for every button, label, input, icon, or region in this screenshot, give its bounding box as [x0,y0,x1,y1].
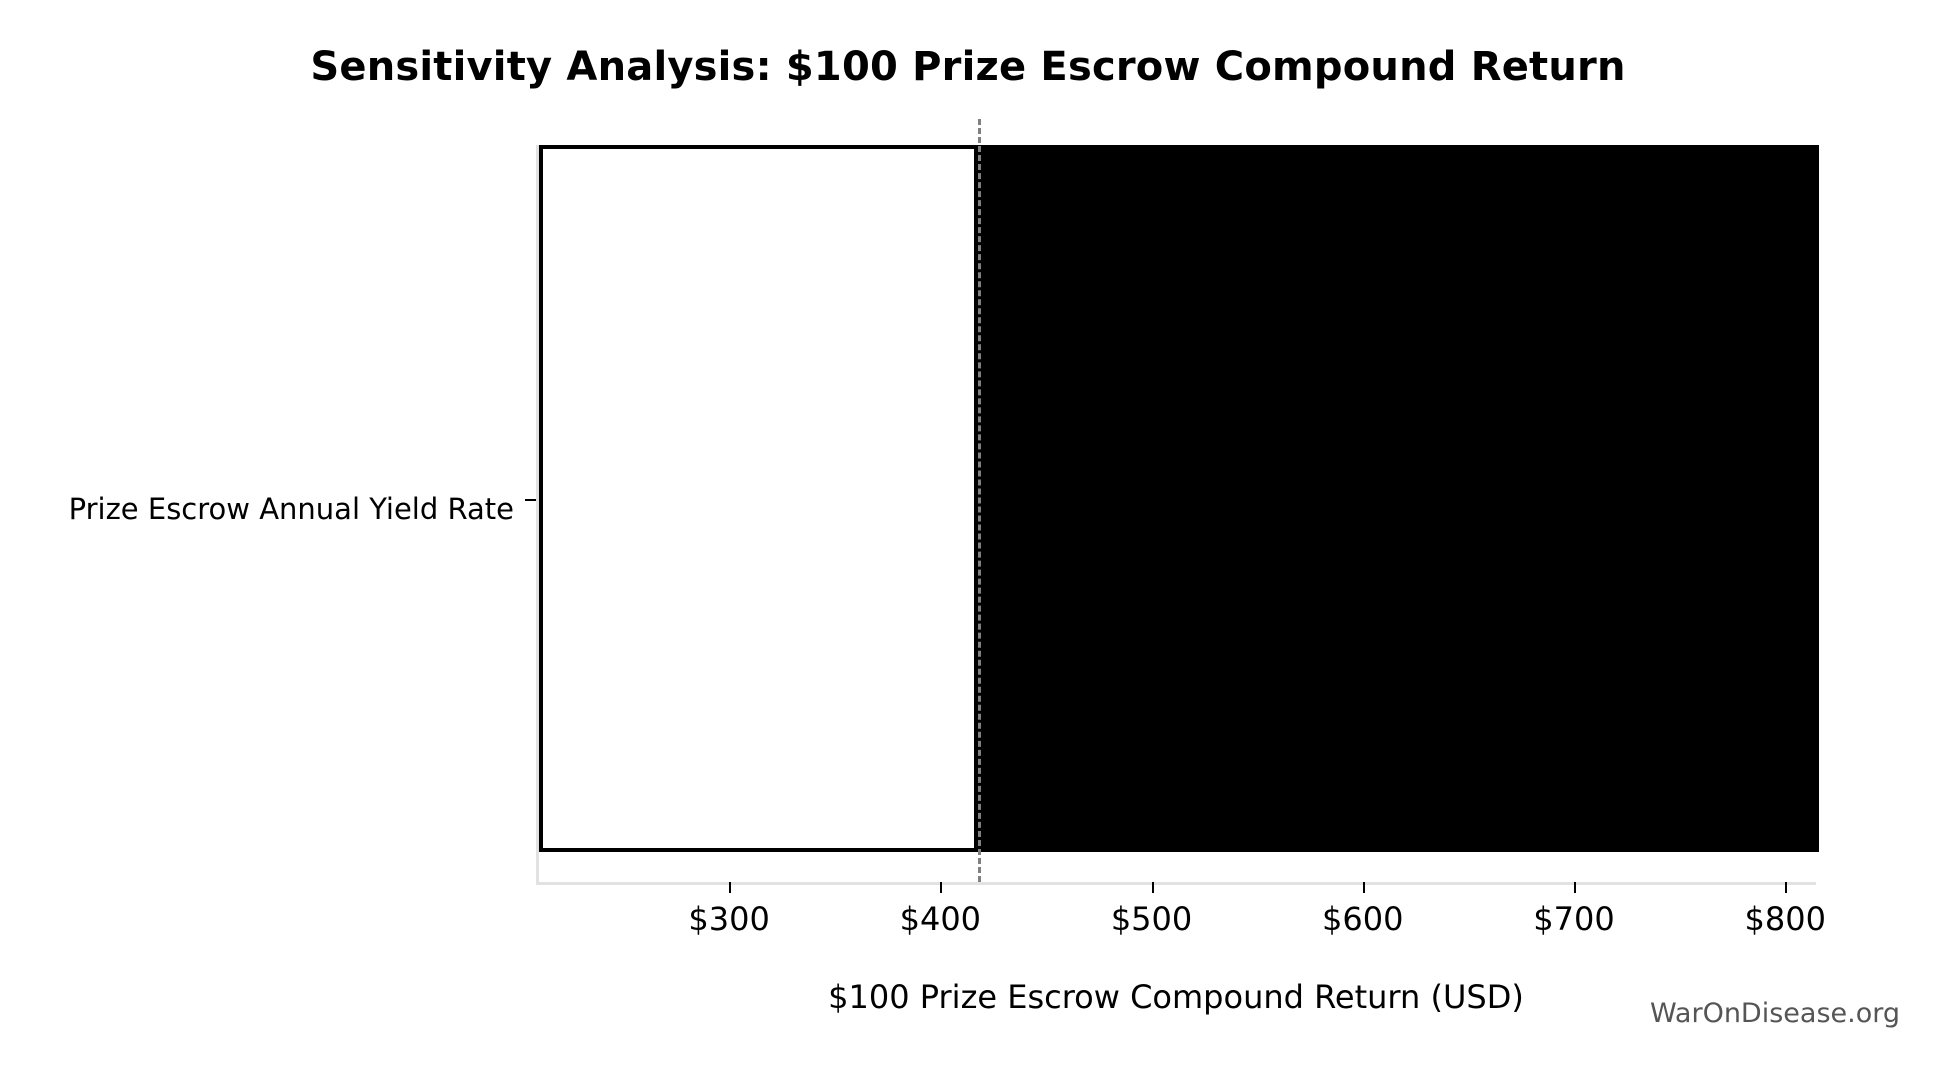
axis-spine-bottom [536,882,1816,885]
x-axis-tick-label: $300 [688,900,769,938]
x-axis-tick-label: $800 [1744,900,1825,938]
baseline-reference-line [978,119,981,882]
x-axis-tick-mark [729,882,731,893]
x-axis-tick-mark [1574,882,1576,893]
x-axis-tick-mark [1785,882,1787,893]
x-axis-tick-label: $500 [1111,900,1192,938]
x-axis-tick-label: $400 [900,900,981,938]
y-axis-tick-label: Prize Escrow Annual Yield Rate [69,492,514,526]
x-axis-tick-label: $700 [1533,900,1614,938]
x-axis-tick-mark [940,882,942,893]
bar-low-case[interactable] [539,145,978,852]
chart-title: Sensitivity Analysis: $100 Prize Escrow … [0,44,1936,90]
chart-figure: Sensitivity Analysis: $100 Prize Escrow … [0,0,1936,1075]
bar-high-case[interactable] [978,145,1819,852]
x-axis-tick-mark [1152,882,1154,893]
x-axis-label: $100 Prize Escrow Compound Return (USD) [536,978,1816,1016]
x-axis-tick-label: $600 [1322,900,1403,938]
y-axis-tick-mark [525,499,536,501]
x-axis-tick-mark [1363,882,1365,893]
plot-area: $300$400$500$600$700$800 [536,145,1816,882]
watermark-label: WarOnDisease.org [1650,998,1900,1029]
